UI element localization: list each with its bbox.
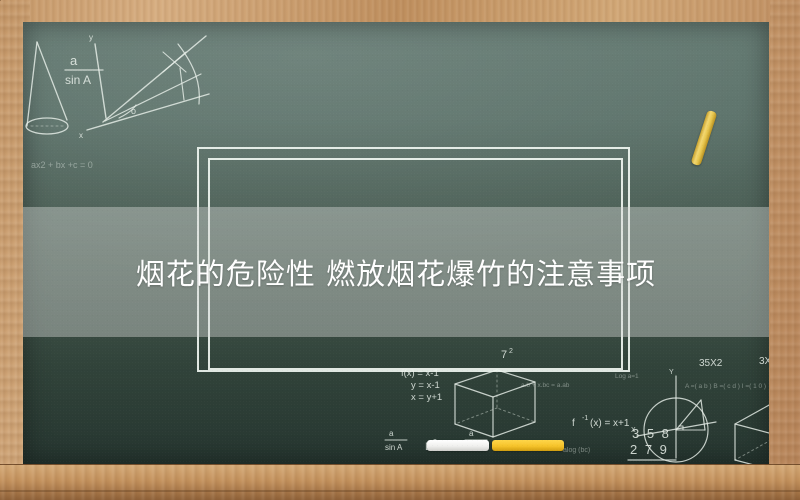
wireframe-cube-icon-right xyxy=(735,404,769,464)
chalk-tray-ledge xyxy=(0,464,800,500)
frame-grain-right xyxy=(770,0,800,500)
screenshot-root: y x o a sin A ax2 + bx +c = 0 f(x) = x-1… xyxy=(0,0,800,500)
chalk-circle-x-label: X xyxy=(631,427,636,434)
chalk-label-35x2: 35X2 xyxy=(699,358,723,369)
ledge-shadow-line xyxy=(0,490,800,492)
page-title: 烟花的危险性 燃放烟花爆竹的注意事项 xyxy=(136,251,656,293)
chalkboard-surface: y x o a sin A ax2 + bx +c = 0 f(x) = x-1… xyxy=(23,22,769,464)
chalk-matrix-row: A =( a b ) B =( c d ) I =( 1 0 ) xyxy=(685,383,766,390)
chalk-piece-yellow xyxy=(492,440,564,451)
title-banner-band: 烟花的危险性 燃放烟花爆竹的注意事项 xyxy=(23,207,769,337)
chalk-circle-y-label: Y xyxy=(669,369,674,376)
chalk-svg-right: Log a=1 35X2 3X2 A =( a b ) B =( c d ) I… xyxy=(613,352,769,464)
chalk-log-note: Log a=1 xyxy=(615,373,639,380)
chalk-piece-white xyxy=(427,440,489,451)
chalk-label-3x2: 3X2 xyxy=(759,356,769,367)
